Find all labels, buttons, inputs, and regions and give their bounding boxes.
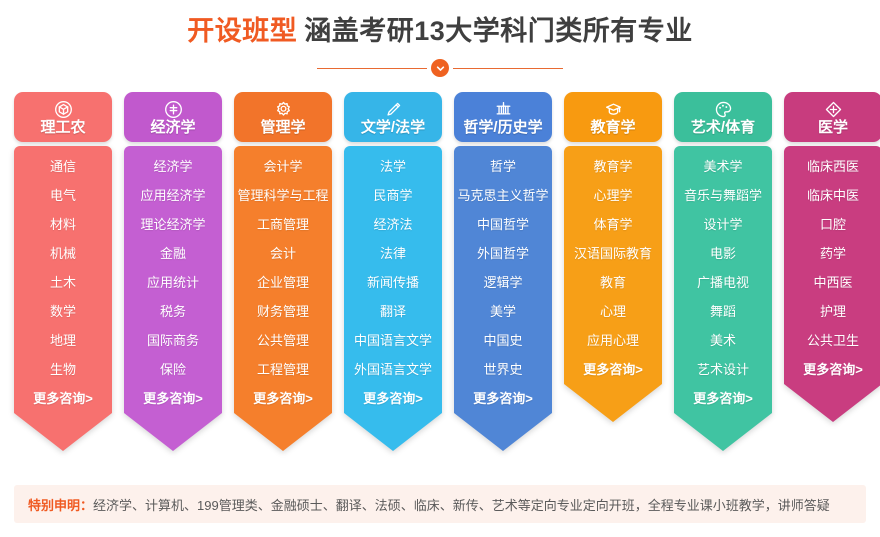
list-item[interactable]: 地理 [50,334,76,347]
list-item[interactable]: 工商管理 [257,218,309,231]
list-item[interactable]: 马克思主义哲学 [457,189,548,202]
list-item[interactable]: 机械 [50,247,76,260]
list-item[interactable]: 保险 [160,363,186,376]
category-header-label: 文学/法学 [361,120,425,135]
category-header-8[interactable]: 医学 [784,92,880,142]
list-item[interactable]: 体育学 [593,218,632,231]
page-title-rest: 涵盖考研13大学科门类所有专业 [304,16,693,46]
list-item[interactable]: 应用心理 [587,334,639,347]
columns-building-icon [494,100,513,119]
category-item-list: 哲学马克思主义哲学中国哲学外国哲学逻辑学美学中国史世界史更多咨询> [454,146,552,413]
list-item[interactable]: 心理学 [593,189,632,202]
list-item[interactable]: 土木 [50,276,76,289]
list-item[interactable]: 材料 [50,218,76,231]
list-item[interactable]: 理论经济学 [140,218,205,231]
list-item[interactable]: 中西医 [813,276,852,289]
cube-circle-icon [54,100,73,119]
list-item[interactable]: 金融 [160,247,186,260]
list-item[interactable]: 药学 [820,247,846,260]
category-header-label: 教育学 [590,120,635,135]
category-header-5[interactable]: 哲学/历史学 [454,92,552,142]
list-item[interactable]: 临床西医 [807,160,859,173]
category-body-group: 会计学管理科学与工程工商管理会计企业管理财务管理公共管理工程管理更多咨询> [234,142,332,451]
category-header-2[interactable]: 经济学 [124,92,222,142]
category-pennant-tip [14,413,112,451]
more-consult-link[interactable]: 更多咨询> [473,392,533,405]
list-item[interactable]: 应用经济学 [140,189,205,202]
list-item[interactable]: 广播电视 [697,276,749,289]
list-item[interactable]: 财务管理 [257,305,309,318]
list-item[interactable]: 公共管理 [257,334,309,347]
category-item-list: 会计学管理科学与工程工商管理会计企业管理财务管理公共管理工程管理更多咨询> [234,146,332,413]
list-item[interactable]: 临床中医 [807,189,859,202]
category-item-list: 法学民商学经济法法律新闻传播翻译中国语言文学外国语言文学更多咨询> [344,146,442,413]
category-column: 文学/法学法学民商学经济法法律新闻传播翻译中国语言文学外国语言文学更多咨询> [344,92,442,451]
more-consult-link[interactable]: 更多咨询> [363,392,423,405]
list-item[interactable]: 设计学 [703,218,742,231]
medical-diamond-icon [824,100,843,119]
list-item[interactable]: 数学 [50,305,76,318]
pencil-icon [384,100,403,119]
category-body-group: 哲学马克思主义哲学中国哲学外国哲学逻辑学美学中国史世界史更多咨询> [454,142,552,451]
category-column: 艺术/体育美术学音乐与舞蹈学设计学电影广播电视舞蹈美术艺术设计更多咨询> [674,92,772,451]
category-pennant-tip [784,384,880,422]
page-title-highlight: 开设班型 [187,16,297,46]
gear-icon [274,100,293,119]
list-item[interactable]: 世界史 [483,363,522,376]
list-item[interactable]: 外国哲学 [477,247,529,260]
category-header-label: 医学 [818,120,848,135]
list-item[interactable]: 汉语国际教育 [574,247,652,260]
category-header-1[interactable]: 理工农 [14,92,112,142]
currency-circle-icon [164,100,183,119]
chevron-down-icon [431,59,449,77]
list-item[interactable]: 经济学 [153,160,192,173]
list-item[interactable]: 管理科学与工程 [237,189,328,202]
more-consult-link[interactable]: 更多咨询> [143,392,203,405]
more-consult-link[interactable]: 更多咨询> [803,363,863,376]
category-header-label: 哲学/历史学 [463,120,542,135]
category-header-4[interactable]: 文学/法学 [344,92,442,142]
list-item[interactable]: 公共卫生 [807,334,859,347]
category-pennant-tip [234,413,332,451]
list-item[interactable]: 中国史 [483,334,522,347]
category-item-list: 美术学音乐与舞蹈学设计学电影广播电视舞蹈美术艺术设计更多咨询> [674,146,772,413]
list-item[interactable]: 护理 [820,305,846,318]
special-note-body: 经济学、计算机、199管理类、金融硕士、翻译、法硕、临床、新传、艺术等定向专业定… [93,495,830,514]
list-item[interactable]: 国际商务 [147,334,199,347]
list-item[interactable]: 民商学 [373,189,412,202]
list-item[interactable]: 通信 [50,160,76,173]
category-column: 哲学/历史学哲学马克思主义哲学中国哲学外国哲学逻辑学美学中国史世界史更多咨询> [454,92,552,451]
category-column: 管理学会计学管理科学与工程工商管理会计企业管理财务管理公共管理工程管理更多咨询> [234,92,332,451]
category-columns: 理工农通信电气材料机械土木数学地理生物更多咨询>经济学经济学应用经济学理论经济学… [14,92,880,451]
list-item[interactable]: 心理 [600,305,626,318]
list-item[interactable]: 企业管理 [257,276,309,289]
category-header-label: 经济学 [150,120,195,135]
category-pennant-tip [344,413,442,451]
category-column: 医学临床西医临床中医口腔药学中西医护理公共卫生更多咨询> [784,92,880,451]
list-item[interactable]: 翻译 [380,305,406,318]
list-item[interactable]: 工程管理 [257,363,309,376]
title-divider [0,59,880,77]
more-consult-link[interactable]: 更多咨询> [693,392,753,405]
category-pennant-tip [564,384,662,422]
category-header-label: 艺术/体育 [691,120,755,135]
category-pennant-tip [674,413,772,451]
list-item[interactable]: 生物 [50,363,76,376]
special-note-lead: 特别申明： [28,495,93,514]
list-item[interactable]: 电影 [710,247,736,260]
category-body-group: 美术学音乐与舞蹈学设计学电影广播电视舞蹈美术艺术设计更多咨询> [674,142,772,451]
category-body-group: 法学民商学经济法法律新闻传播翻译中国语言文学外国语言文学更多咨询> [344,142,442,451]
list-item[interactable]: 法学 [380,160,406,173]
list-item[interactable]: 电气 [50,189,76,202]
graduation-cap-icon [604,100,623,119]
page-header: 开设班型涵盖考研13大学科门类所有专业 [0,0,880,77]
list-item[interactable]: 美学 [490,305,516,318]
category-body-group: 临床西医临床中医口腔药学中西医护理公共卫生更多咨询> [784,142,880,422]
category-header-label: 理工农 [40,120,85,135]
category-body-group: 经济学应用经济学理论经济学金融应用统计税务国际商务保险更多咨询> [124,142,222,451]
category-header-label: 管理学 [260,120,305,135]
category-pennant-tip [454,413,552,451]
category-item-list: 通信电气材料机械土木数学地理生物更多咨询> [14,146,112,413]
list-item[interactable]: 教育学 [593,160,632,173]
category-body-group: 通信电气材料机械土木数学地理生物更多咨询> [14,142,112,451]
list-item[interactable]: 外国语言文学 [354,363,432,376]
list-item[interactable]: 应用统计 [147,276,199,289]
more-consult-link[interactable]: 更多咨询> [33,392,93,405]
category-column: 经济学经济学应用经济学理论经济学金融应用统计税务国际商务保险更多咨询> [124,92,222,451]
page-title: 开设班型涵盖考研13大学科门类所有专业 [0,18,880,45]
more-consult-link[interactable]: 更多咨询> [583,363,643,376]
category-header-6[interactable]: 教育学 [564,92,662,142]
divider-line-right [453,68,563,69]
category-item-list: 临床西医临床中医口腔药学中西医护理公共卫生更多咨询> [784,146,880,384]
list-item[interactable]: 哲学 [490,160,516,173]
list-item[interactable]: 法律 [380,247,406,260]
list-item[interactable]: 中国语言文学 [354,334,432,347]
category-item-list: 经济学应用经济学理论经济学金融应用统计税务国际商务保险更多咨询> [124,146,222,413]
list-item[interactable]: 美术 [710,334,736,347]
category-header-7[interactable]: 艺术/体育 [674,92,772,142]
more-consult-link[interactable]: 更多咨询> [253,392,313,405]
category-header-3[interactable]: 管理学 [234,92,332,142]
list-item[interactable]: 美术学 [703,160,742,173]
category-column: 教育学教育学心理学体育学汉语国际教育教育心理应用心理更多咨询> [564,92,662,451]
category-body-group: 教育学心理学体育学汉语国际教育教育心理应用心理更多咨询> [564,142,662,422]
list-item[interactable]: 教育 [600,276,626,289]
list-item[interactable]: 税务 [160,305,186,318]
list-item[interactable]: 会计学 [263,160,302,173]
category-pennant-tip [124,413,222,451]
list-item[interactable]: 新闻传播 [367,276,419,289]
list-item[interactable]: 艺术设计 [697,363,749,376]
list-item[interactable]: 逻辑学 [483,276,522,289]
divider-line-left [317,68,427,69]
category-column: 理工农通信电气材料机械土木数学地理生物更多咨询> [14,92,112,451]
list-item[interactable]: 舞蹈 [710,305,736,318]
palette-icon [714,100,733,119]
list-item[interactable]: 会计 [270,247,296,260]
list-item[interactable]: 音乐与舞蹈学 [684,189,762,202]
category-item-list: 教育学心理学体育学汉语国际教育教育心理应用心理更多咨询> [564,146,662,384]
list-item[interactable]: 经济法 [373,218,412,231]
list-item[interactable]: 口腔 [820,218,846,231]
list-item[interactable]: 中国哲学 [477,218,529,231]
special-note-bar: 特别申明： 经济学、计算机、199管理类、金融硕士、翻译、法硕、临床、新传、艺术… [14,485,866,523]
